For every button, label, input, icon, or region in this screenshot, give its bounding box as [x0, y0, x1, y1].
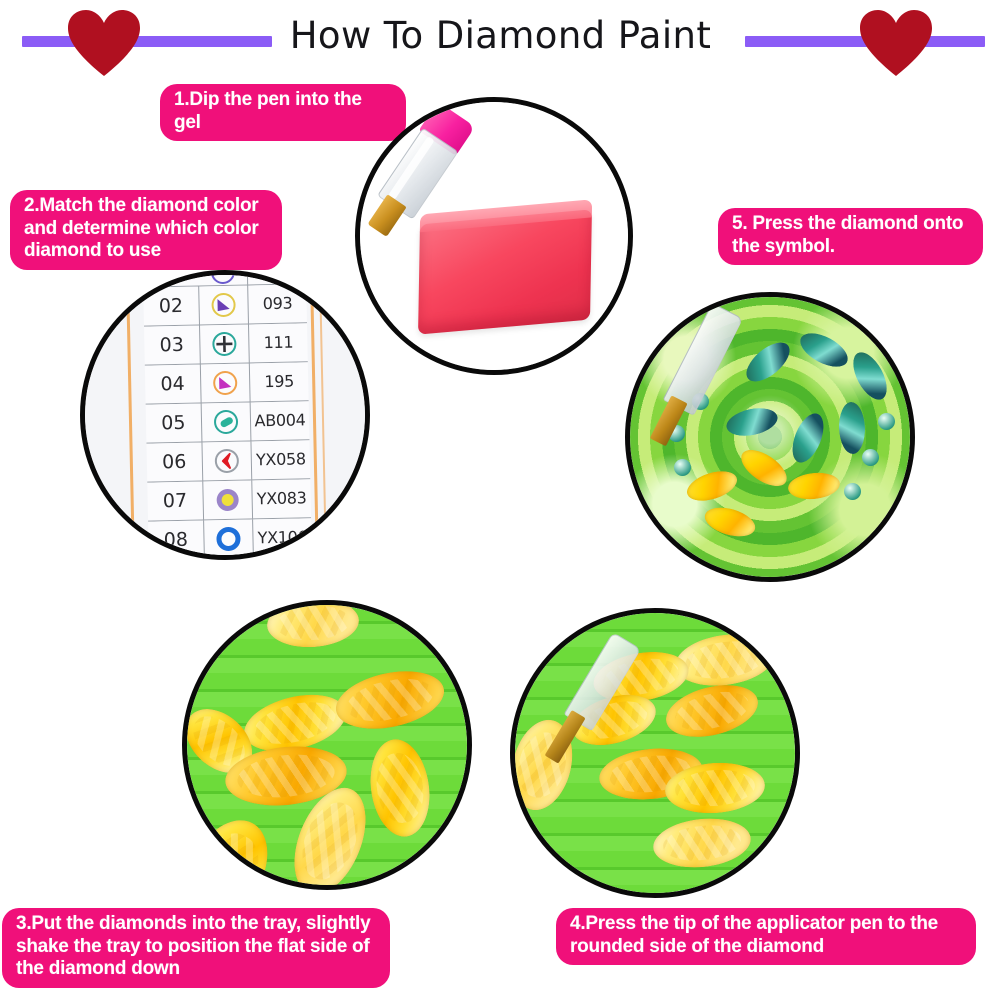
chart-code: YX106 [254, 518, 313, 555]
chart-number: 03 [144, 326, 201, 365]
chart-number: 06 [147, 443, 204, 482]
panel-dip-pen-in-gel [355, 97, 633, 375]
color-chart-row: 02093 [144, 284, 308, 326]
color-chart-row: 06YX058 [147, 440, 311, 482]
chart-guide-line [126, 275, 136, 555]
color-chart-row: 07YX083 [148, 479, 312, 521]
pill-icon [202, 403, 252, 442]
double-dot-circle-icon [199, 275, 249, 286]
chart-guide-line [310, 275, 320, 555]
chart-number: 08 [148, 521, 205, 555]
step-3-label: 3.Put the diamonds into the tray, slight… [2, 908, 390, 988]
panel-press-onto-symbol [625, 292, 915, 582]
step-4-label: 4.Press the tip of the applicator pen to… [556, 908, 976, 965]
step-5-label: 5. Press the diamond onto the symbol. [718, 208, 983, 265]
plus-icon [200, 325, 250, 364]
chart-code: AB004 [251, 401, 310, 440]
chart-number: 07 [148, 482, 205, 521]
chart-code: 093 [249, 284, 308, 323]
color-chart-row: 05AB004 [146, 401, 310, 443]
chart-code: 195 [250, 362, 309, 401]
chart-number: 05 [146, 404, 203, 443]
triangle-icon [199, 286, 249, 325]
color-chart-row: 08YX106 [148, 518, 312, 555]
color-chart-row: 04195 [145, 362, 309, 404]
panel-diamond-tray [182, 600, 472, 890]
page-header: How To Diamond Paint [0, 0, 1001, 72]
chart-number: 04 [145, 365, 202, 404]
panel-pick-up-diamond [510, 608, 800, 898]
triangle-icon [201, 364, 251, 403]
chart-code: YX058 [252, 440, 311, 479]
page-title: How To Diamond Paint [0, 14, 1001, 57]
dot-in-ring-icon [203, 481, 253, 520]
chart-code: YX083 [253, 479, 312, 518]
step-2-label: 2.Match the diamond color and determine … [10, 190, 282, 270]
panel-color-chart: 02802093031110419505AB00406YX05807YX0830… [80, 270, 370, 560]
chart-number: 02 [144, 287, 201, 326]
chart-code: 111 [249, 323, 308, 362]
color-chart-row: 03111 [144, 323, 308, 365]
chart-guide-line [319, 275, 328, 555]
chevron-left-icon [203, 442, 253, 481]
ring-icon [204, 520, 254, 555]
color-chart-table: 02802093031110419505AB00406YX05807YX0830… [143, 275, 313, 555]
